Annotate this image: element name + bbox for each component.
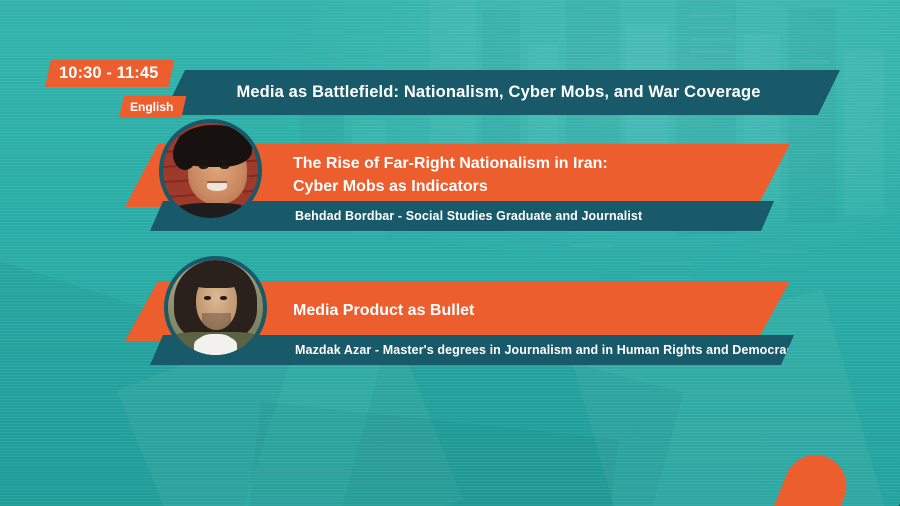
talk-card: Media Product as Bullet Mazdak Azar - Ma… <box>0 273 900 375</box>
speaker-photo <box>168 260 263 355</box>
session-title-bar: Media as Battlefield: Nationalism, Cyber… <box>163 70 840 115</box>
session-time-badge: 10:30 - 11:45 <box>45 60 174 87</box>
talk-card: The Rise of Far-Right Nationalism in Ira… <box>0 133 900 241</box>
session-slide: Media as Battlefield: Nationalism, Cyber… <box>0 0 900 506</box>
page-title: Media as Battlefield: Nationalism, Cyber… <box>236 83 766 102</box>
avatar <box>164 256 267 359</box>
speaker-photo <box>163 123 258 218</box>
session-header: Media as Battlefield: Nationalism, Cyber… <box>0 28 900 98</box>
avatar <box>159 119 262 222</box>
session-language-badge: English <box>119 96 186 118</box>
